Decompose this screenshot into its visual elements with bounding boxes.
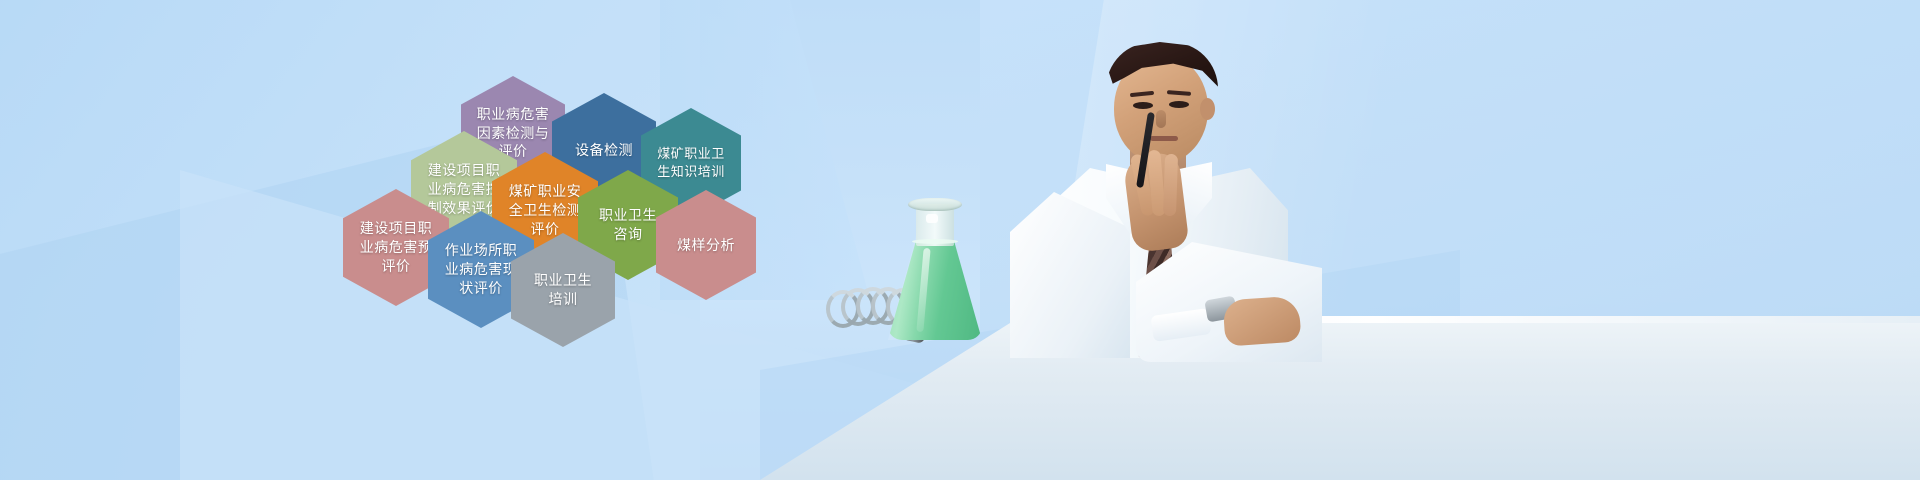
hexagon-label: 煤样分析 [671,236,741,255]
person-photo [1010,36,1310,336]
flask-liquid-surface [912,239,958,244]
right-ear [1200,98,1215,120]
nose [1156,110,1166,128]
hexagon-label: 职业卫生 培训 [528,271,598,309]
resting-hand [1222,295,1301,346]
service-hexagon-cluster: 职业病危害 因素检测与 评价设备检测煤矿职业卫 生知识培训建设项目职 业病危害控… [0,0,820,400]
hexagon-label: 作业场所职 业病危害现 状评价 [439,241,524,298]
flask-neck-highlight [926,214,938,223]
finger-3 [1163,154,1178,216]
hexagon-label: 煤矿职业卫 生知识培训 [651,145,731,180]
right-eye [1169,101,1189,108]
hexagon-label: 职业卫生 咨询 [593,206,663,244]
hexagon-label: 设备检测 [569,141,639,160]
erlenmeyer-flask [880,196,990,344]
left-eye [1133,102,1153,109]
mouth [1150,136,1178,141]
flask-lip [908,198,962,211]
banner-stage: 职业病危害 因素检测与 评价设备检测煤矿职业卫 生知识培训建设项目职 业病危害控… [0,0,1920,480]
hexagon-label: 建设项目职 业病危害预 评价 [354,219,439,276]
